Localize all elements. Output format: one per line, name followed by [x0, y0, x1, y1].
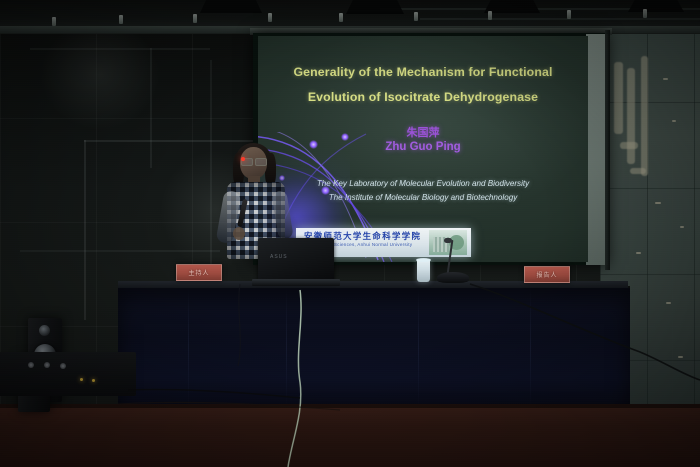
- desk-microphone-head: [444, 238, 452, 243]
- slide-affiliation-line-1: The Key Laboratory of Molecular Evolutio…: [258, 177, 588, 191]
- ceiling-downlight: [643, 9, 647, 18]
- slide-speaker-name-english: Zhu Guo Ping: [258, 141, 588, 153]
- ceiling-downlight: [339, 13, 343, 22]
- table-cloth: [118, 288, 630, 408]
- floor: [0, 404, 700, 467]
- paper-cup-rim: [416, 258, 431, 262]
- nameplate-left: 主持人: [176, 264, 222, 281]
- wall-smear: [630, 168, 646, 174]
- ceiling-vent: [484, 0, 540, 13]
- amplifier-knob: [28, 362, 34, 368]
- floor-edge-shadow: [0, 404, 700, 408]
- wall-smear: [641, 56, 648, 176]
- slide-title: Generality of the Mechanism for Function…: [258, 60, 588, 110]
- ceiling-downlight: [268, 13, 272, 22]
- nameplate-right-text: 报告人: [536, 270, 557, 279]
- ceiling-downlight: [119, 15, 123, 24]
- wall-mark: [84, 140, 86, 320]
- screen-right-edge: [605, 30, 610, 270]
- ceiling-downlight: [488, 11, 492, 20]
- ceiling-downlight: [567, 10, 571, 19]
- paper-cup: [417, 259, 430, 282]
- amplifier-knob: [60, 363, 66, 369]
- wall-speck: [636, 252, 641, 254]
- wall-speck: [666, 302, 671, 304]
- amplifier-knob: [44, 362, 50, 368]
- desk-microphone-base: [437, 272, 469, 283]
- cloth-fold: [530, 288, 531, 408]
- amplifier-led-icon: [80, 378, 83, 381]
- presentation-photo: Generality of the Mechanism for Function…: [0, 0, 700, 467]
- laptop: ASUS: [258, 238, 334, 282]
- presenter-hand: [233, 227, 245, 240]
- wall-smear: [620, 142, 638, 149]
- ceiling-vent: [200, 0, 262, 13]
- laptop-brand-label: ASUS: [270, 254, 288, 260]
- ceiling-vent: [346, 0, 404, 14]
- laptop-base: [252, 279, 340, 286]
- eyeglass-lens: [255, 158, 267, 166]
- slide-affiliation: The Key Laboratory of Molecular Evolutio…: [258, 177, 588, 205]
- slide-title-line-1: Generality of the Mechanism for Function…: [258, 60, 588, 85]
- cloth-fold: [286, 288, 287, 408]
- slide-title-line-2: Evolution of Isocitrate Dehydrogenase: [258, 85, 588, 110]
- slide-affiliation-line-2: The Institute of Molecular Biology and B…: [258, 191, 588, 205]
- cloth-fold: [188, 288, 189, 408]
- wall-smear: [627, 68, 635, 164]
- audio-amplifier: [0, 352, 136, 396]
- ceiling-beam: [420, 18, 700, 20]
- wall-speck: [655, 202, 661, 204]
- speaker-tweeter: [39, 325, 50, 336]
- ceiling-downlight: [193, 14, 197, 23]
- projected-slide: Generality of the Mechanism for Function…: [258, 36, 588, 262]
- wall-blotch: [40, 20, 160, 130]
- ceiling-downlight: [52, 17, 56, 26]
- wall-speck: [672, 120, 676, 122]
- ceiling-downlight: [414, 12, 418, 21]
- slide-speaker-name-chinese: 朱国萍: [258, 124, 588, 140]
- wall-smear: [614, 62, 623, 134]
- amplifier-led-icon: [92, 379, 95, 382]
- ceiling-vent: [628, 0, 684, 12]
- nameplate-left-text: 主持人: [188, 268, 209, 277]
- wall-speck: [678, 356, 683, 358]
- wall-speck: [663, 78, 668, 80]
- nameplate-right: 报告人: [524, 266, 570, 283]
- cloth-fold: [418, 288, 419, 408]
- microphone-led-icon: [241, 157, 245, 161]
- wall-speck: [680, 226, 684, 228]
